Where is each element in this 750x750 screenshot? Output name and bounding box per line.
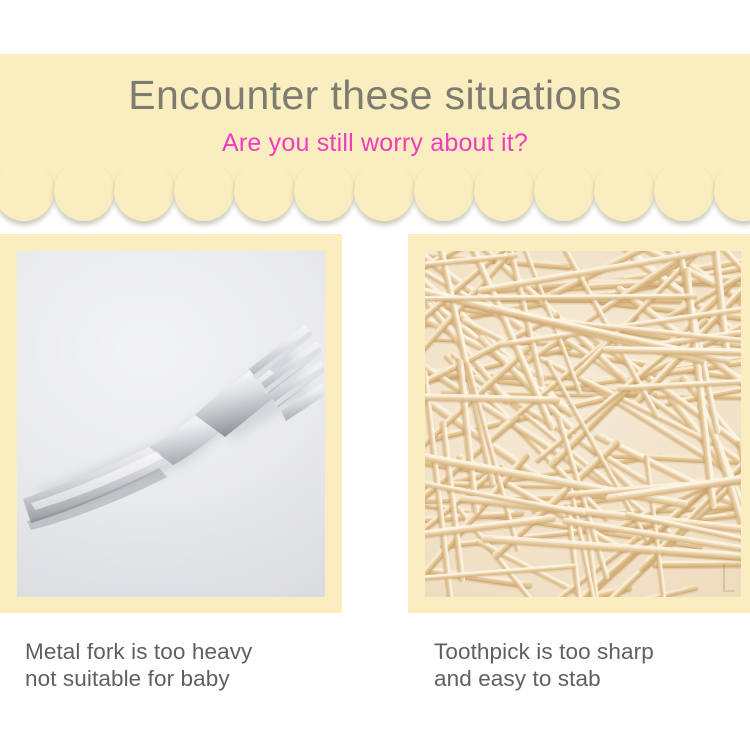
- page-subtitle: Are you still worry about it?: [0, 127, 750, 159]
- scallop-shape: [594, 161, 654, 221]
- card-metal-fork: [0, 234, 342, 613]
- card-toothpick: [408, 234, 750, 613]
- toothpick-pile-photo: [425, 251, 741, 597]
- scallop-shape: [354, 161, 414, 221]
- caption-toothpick: Toothpick is too sharp and easy to stab: [434, 638, 750, 692]
- scallop-shape: [414, 161, 474, 221]
- promo-banner: Encounter these situations Are you still…: [0, 0, 750, 750]
- fork-icon: [17, 251, 325, 597]
- scallop-shape: [174, 161, 234, 221]
- scalloped-divider: [0, 191, 750, 225]
- scallop-shape: [114, 161, 174, 221]
- caption-metal-fork: Metal fork is too heavy not suitable for…: [25, 638, 355, 692]
- scallop-shape: [474, 161, 534, 221]
- scallop-shape: [294, 161, 354, 221]
- scallop-shape: [54, 161, 114, 221]
- photo-watermark: [723, 564, 735, 592]
- scallop-shape: [534, 161, 594, 221]
- scallop-shape: [0, 161, 54, 221]
- toothpicks-illustration: [425, 251, 741, 597]
- page-title: Encounter these situations: [0, 70, 750, 120]
- scallop-shape: [234, 161, 294, 221]
- metal-fork-photo: [17, 251, 325, 597]
- scallop-shape: [654, 161, 714, 221]
